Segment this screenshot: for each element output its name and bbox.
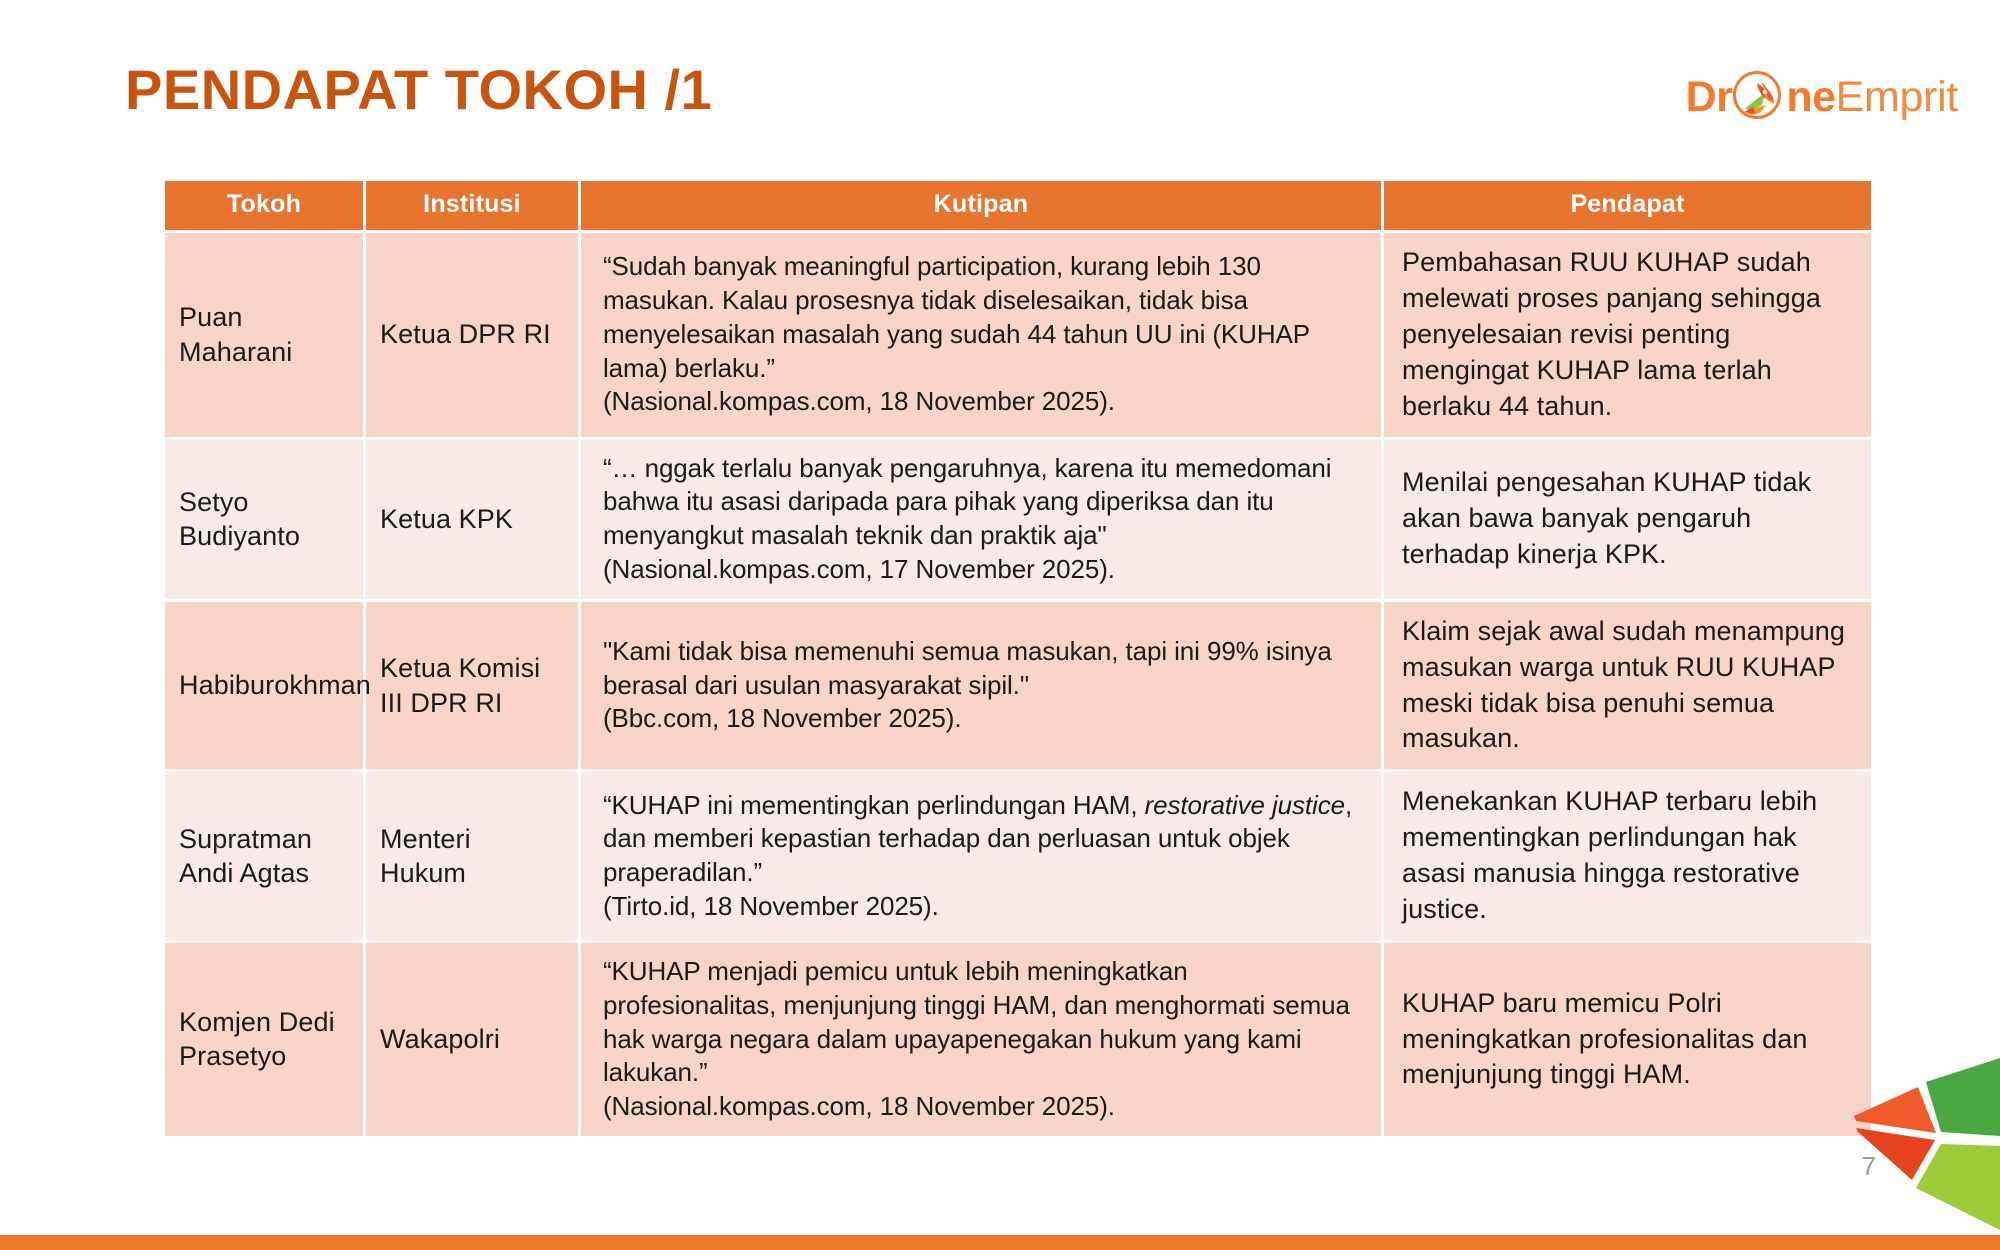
logo-text-dr: Dr <box>1686 76 1733 119</box>
column-header-institusi: Institusi <box>366 181 578 230</box>
cell-tokoh: Puan Maharani <box>165 233 363 437</box>
cell-pendapat: Pembahasan RUU KUHAP sudah melewati pros… <box>1384 233 1871 437</box>
cell-institusi: Ketua Komisi III DPR RI <box>366 602 578 770</box>
bottom-accent-bar <box>0 1235 2000 1250</box>
cell-tokoh: Habiburokhman <box>165 602 363 770</box>
table-row: Setyo Budiyanto Ketua KPK “… nggak terla… <box>165 440 1871 599</box>
table-row: Supratman Andi Agtas Menteri Hukum “KUHA… <box>165 772 1871 940</box>
cell-kutipan: “KUHAP ini mementingkan perlindungan HAM… <box>581 772 1381 940</box>
logo-text-ne: ne <box>1786 76 1835 119</box>
opinions-table: Tokoh Institusi Kutipan Pendapat Puan Ma… <box>162 178 1874 1139</box>
decorative-fan-icon <box>1840 1040 2000 1230</box>
cell-institusi: Ketua KPK <box>366 440 578 599</box>
cell-pendapat: Klaim sejak awal sudah menampung masukan… <box>1384 602 1871 770</box>
cell-kutipan: "Kami tidak bisa memenuhi semua masukan,… <box>581 602 1381 770</box>
logo-text-emprit: Emprit <box>1836 76 1958 119</box>
drone-emprit-logo: Dr ne Emprit <box>1686 66 1958 128</box>
cell-pendapat: KUHAP baru memicu Polri meningkatkan pro… <box>1384 943 1871 1136</box>
cell-pendapat: Menilai pengesahan KUHAP tidak akan bawa… <box>1384 440 1871 599</box>
table-row: Habiburokhman Ketua Komisi III DPR RI "K… <box>165 602 1871 770</box>
cell-tokoh: Supratman Andi Agtas <box>165 772 363 940</box>
cell-kutipan: “KUHAP menjadi pemicu untuk lebih mening… <box>581 943 1381 1136</box>
cell-institusi: Menteri Hukum <box>366 772 578 940</box>
cell-pendapat: Menekankan KUHAP terbaru lebih mementing… <box>1384 772 1871 940</box>
page-title: PENDAPAT TOKOH /1 <box>125 62 712 118</box>
column-header-kutipan: Kutipan <box>581 181 1381 230</box>
cell-kutipan: “Sudah banyak meaningful participation, … <box>581 233 1381 437</box>
table-row: Komjen Dedi Prasetyo Wakapolri “KUHAP me… <box>165 943 1871 1136</box>
cell-institusi: Wakapolri <box>366 943 578 1136</box>
column-header-pendapat: Pendapat <box>1384 181 1871 230</box>
cell-tokoh: Setyo Budiyanto <box>165 440 363 599</box>
column-header-tokoh: Tokoh <box>165 181 363 230</box>
table-header-row: Tokoh Institusi Kutipan Pendapat <box>165 181 1871 230</box>
cell-kutipan: “… nggak terlalu banyak pengaruhnya, kar… <box>581 440 1381 599</box>
cell-tokoh: Komjen Dedi Prasetyo <box>165 943 363 1136</box>
table-row: Puan Maharani Ketua DPR RI “Sudah banyak… <box>165 233 1871 437</box>
cell-institusi: Ketua DPR RI <box>366 233 578 437</box>
drone-emprit-bird-icon <box>1731 69 1787 125</box>
